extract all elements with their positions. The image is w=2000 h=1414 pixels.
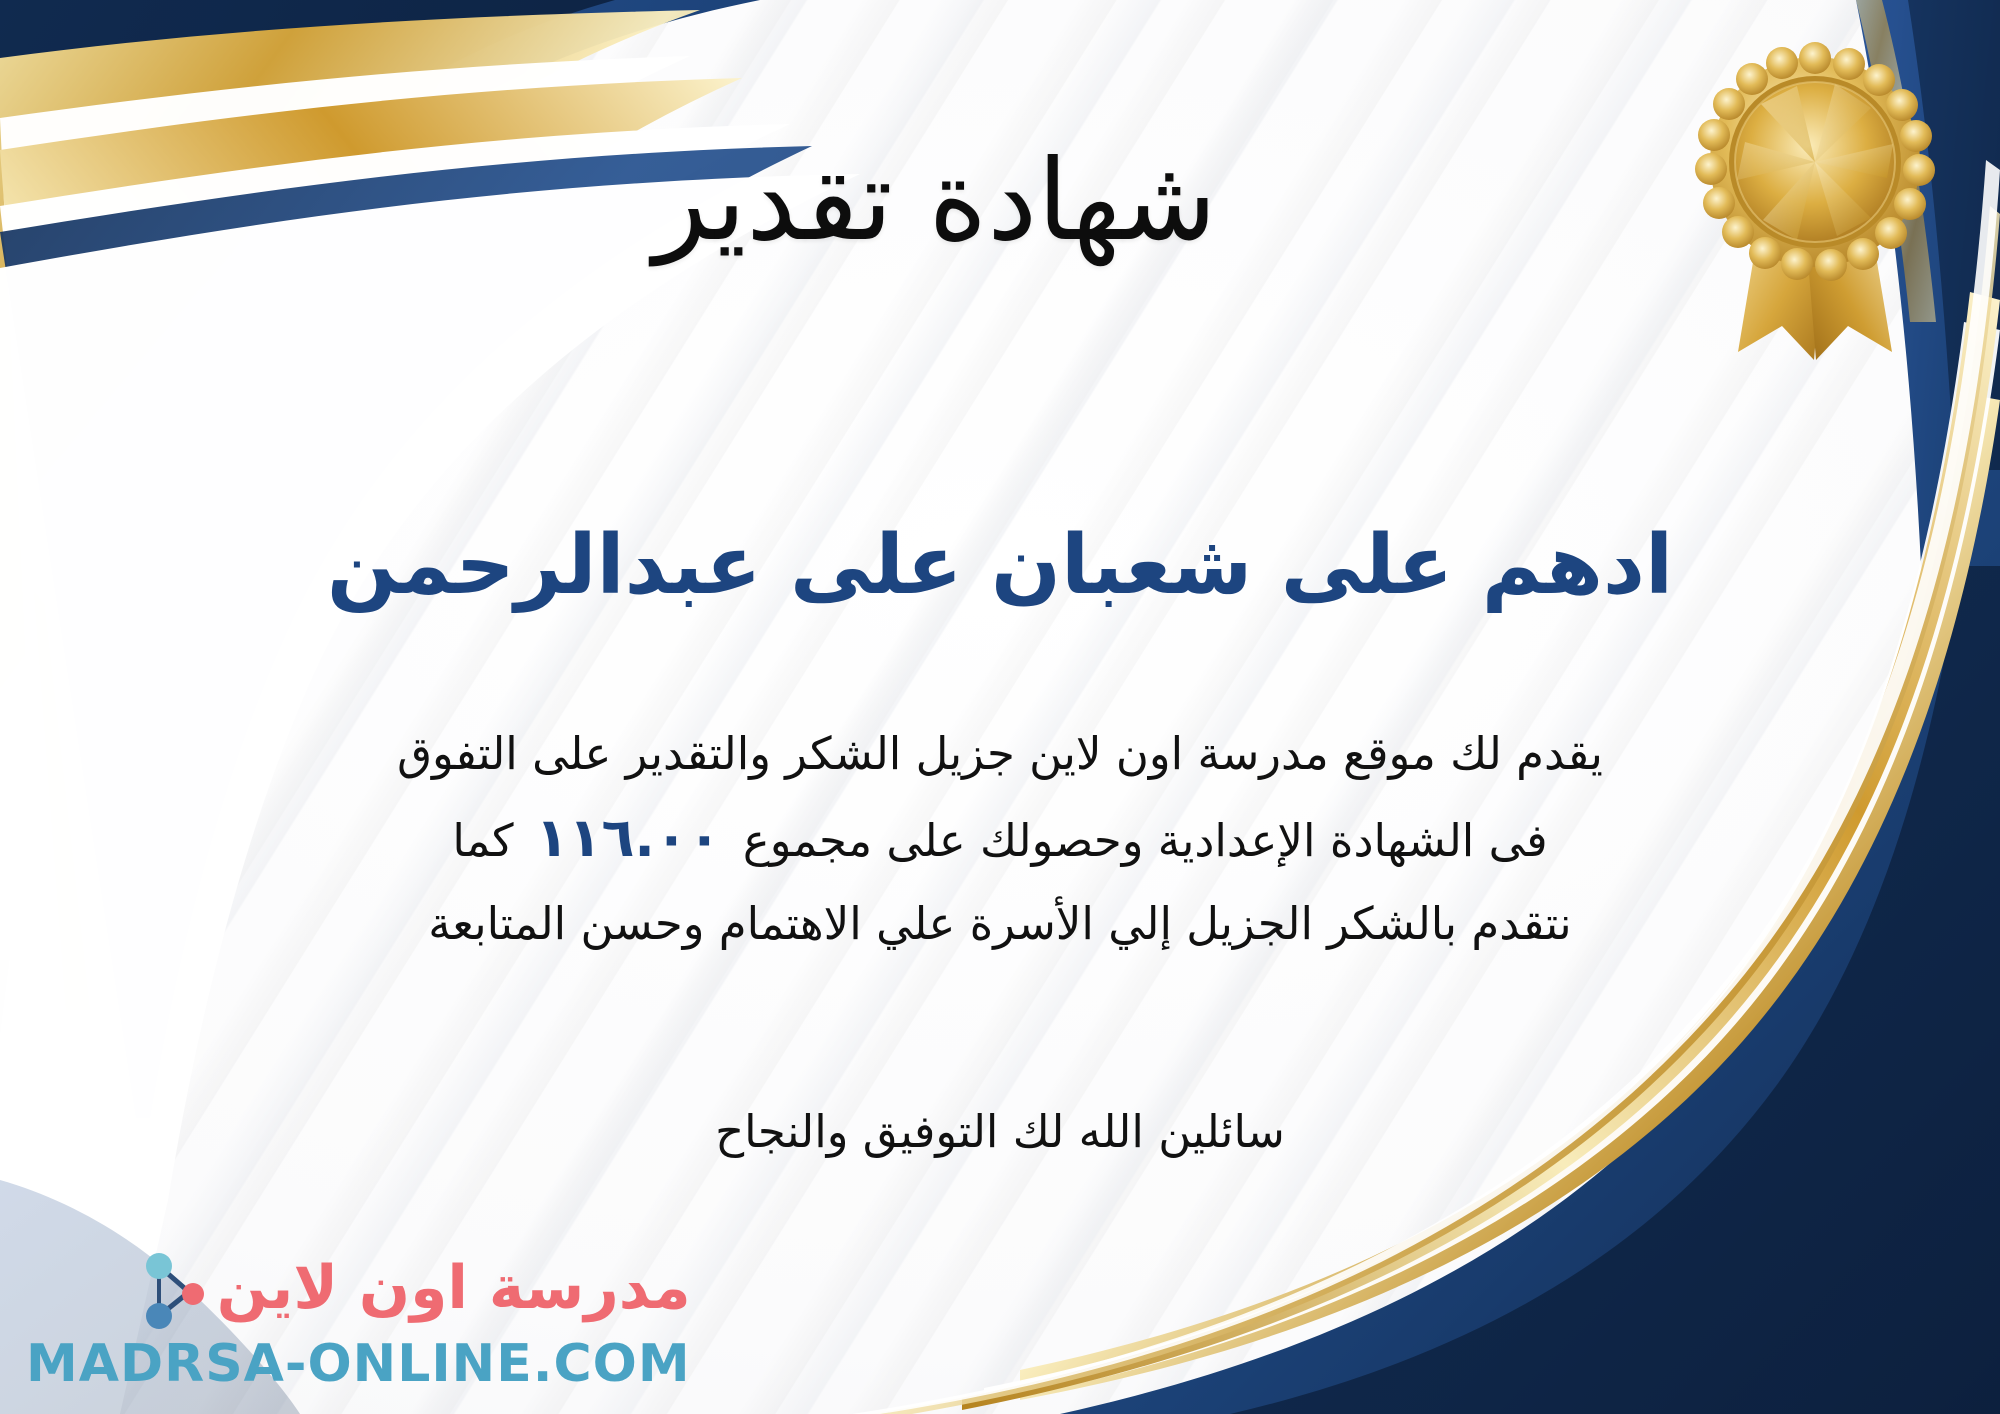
- closing-line: سائلين الله لك التوفيق والنجاح: [0, 1105, 2000, 1158]
- brand-arabic-row: مدرسة اون لاين: [137, 1244, 691, 1332]
- body-line-1: يقدم لك موقع مدرسة اون لاين جزيل الشكر و…: [60, 715, 1940, 792]
- recipient-name: ادهم على شعبان على عبدالرحمن: [0, 515, 2000, 618]
- body-line-3: نتقدم بالشكر الجزيل إلي الأسرة علي الاهت…: [60, 885, 1940, 962]
- brand-logo[interactable]: مدرسة اون لاين MADRSA-ONLINE.COM: [26, 1244, 691, 1390]
- body-line-2: فى الشهادة الإعدادية وحصولك على مجموع١١٦…: [60, 792, 1940, 885]
- certificate-page: شهادة تقدير ادهم على شعبان على عبدالرحمن…: [0, 0, 2000, 1414]
- brand-website[interactable]: MADRSA-ONLINE.COM: [26, 1338, 691, 1390]
- network-nodes-icon: [137, 1244, 211, 1332]
- body-line-2-suffix: كما: [452, 814, 513, 867]
- certificate-body: يقدم لك موقع مدرسة اون لاين جزيل الشكر و…: [60, 715, 1940, 963]
- body-line-2-prefix: فى الشهادة الإعدادية وحصولك على مجموع: [743, 814, 1548, 867]
- brand-arabic-name: مدرسة اون لاين: [217, 1258, 691, 1318]
- total-score-value: ١١٦.٠٠: [514, 792, 743, 885]
- gold-award-medal-icon: [1690, 40, 1940, 370]
